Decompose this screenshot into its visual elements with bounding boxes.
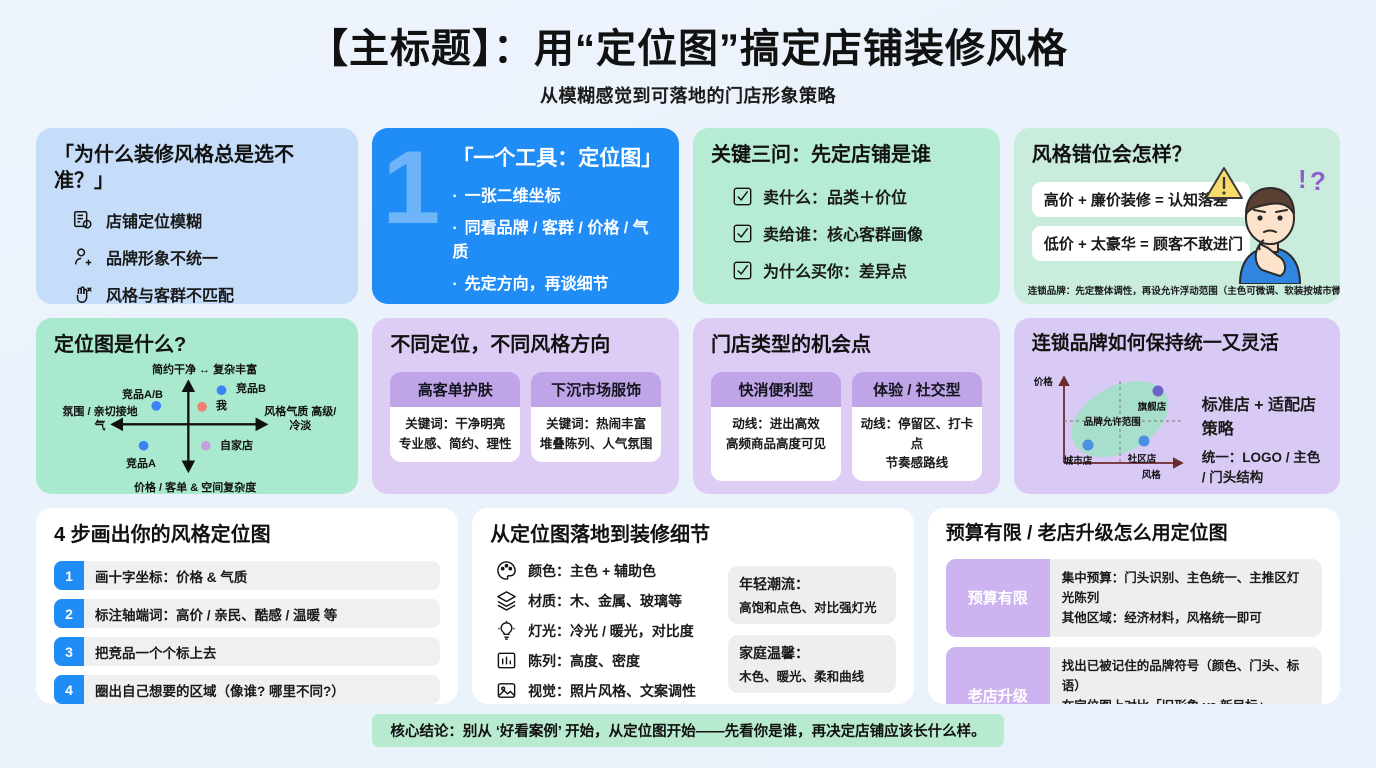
row-three: 4 步画出你的风格定位图 1 画十字坐标：价格 & 气质 2 标注轴端词：高价 … <box>36 508 1340 704</box>
direction-box: 下沉市场服饰 关键词：热闹丰富 堆叠陈列、人气氛围 <box>531 372 661 462</box>
list-item: 3 把竞品一个个标上去 <box>54 637 440 666</box>
list-item: 4 圈出自己想要的区域（像谁? 哪里不同?） <box>54 675 440 704</box>
list-item-label: 灯光：冷光 / 暖光，对比度 <box>528 621 694 641</box>
style-examples: 年轻潮流： 高饱和点色、对比强灯光 家庭温馨： 木色、暖光、柔和曲线 <box>728 560 896 704</box>
step-text: 标注轴端词：高价 / 亲民、酷感 / 温暖 等 <box>84 599 337 628</box>
card-what-is-map: 定位图是什么? <box>36 318 358 494</box>
card-the-tool: 1 「一个工具：定位图」 一张二维坐标 同看品牌 / 客群 / 价格 / 气质 … <box>372 128 679 304</box>
storetype-boxes: 快消便利型 动线：进出高效 高频商品高度可见 体验 / 社交型 动线：停留区、打… <box>711 372 982 481</box>
card-title: 关键三问：先定店铺是谁 <box>711 142 982 168</box>
box-header: 高客单护肤 <box>390 372 520 407</box>
row-tag: 老店升级 <box>946 647 1050 704</box>
card-title: 不同定位，不同风格方向 <box>390 332 661 358</box>
page-title: 【主标题】：用“定位图”搞定店铺装修风格 <box>36 26 1340 73</box>
step-number: 3 <box>54 637 84 666</box>
box-line: 节奏感路线 <box>858 454 976 473</box>
step-text: 圈出自己想要的区域（像谁? 哪里不同?） <box>84 675 345 704</box>
check-box-icon <box>733 224 752 243</box>
example-header: 年轻潮流： <box>739 574 885 594</box>
user-add-icon <box>72 246 94 268</box>
box-header: 快消便利型 <box>711 372 841 407</box>
example-box: 年轻潮流： 高饱和点色、对比强灯光 <box>728 566 896 624</box>
card-four-steps: 4 步画出你的风格定位图 1 画十字坐标：价格 & 气质 2 标注轴端词：高价 … <box>36 508 458 704</box>
list-item: 材质：木、金属、玻璃等 <box>496 590 718 611</box>
card-title: 连锁品牌如何保持统一又灵活 <box>1032 332 1322 357</box>
document-search-icon <box>72 209 94 231</box>
point-label: 竞品A <box>126 458 156 472</box>
bar-chart-icon <box>496 650 517 671</box>
range-annotation: 品牌允许范围 <box>1084 414 1141 428</box>
exclaim-question-icon: ! ? <box>1298 164 1326 196</box>
layers-icon <box>496 590 517 611</box>
list-item-label: 陈列：高度、密度 <box>528 651 640 671</box>
step-text: 画十字坐标：价格 & 气质 <box>84 561 247 590</box>
box-header: 下沉市场服饰 <box>531 372 661 407</box>
positioning-quadrant-chart: 简约干净 ↔ 复杂丰富 氛围 / 亲切接地气 风格气质 高级/冷淡 价格 / 客… <box>54 362 340 490</box>
storetype-box: 体验 / 社交型 动线：停留区、打卡点 节奏感路线 <box>852 372 982 481</box>
box-body: 关键词：热闹丰富 堆叠陈列、人气氛围 <box>531 407 661 462</box>
card-footnote: 连锁品牌：先定整体调性，再设允许浮动范围（主色可微调、软装按城市微调） <box>1028 283 1330 297</box>
hand-broken-icon <box>72 283 94 304</box>
row-line: 在定位图上对比「旧形象 vs 新目标」 <box>1062 696 1310 704</box>
list-item: 品牌形象不统一 <box>72 245 340 269</box>
conclusion-banner: 核心结论：别从 ‘好看案例’ 开始，从定位图开始——先看你是谁，再决定店铺应该长… <box>372 714 1003 747</box>
strategy-line: 统一：LOGO / 主色 / 门头结构 <box>1202 446 1322 486</box>
palette-icon <box>496 560 517 581</box>
list-item-label: 卖什么：品类＋价位 <box>763 184 907 208</box>
check-box-icon <box>733 187 752 206</box>
point-label: 自家店 <box>220 440 253 454</box>
chain-content: 价格 风格 品牌允许范围 旗舰店 城市店 社区店 标准店 + 适配店策略 统一：… <box>1032 363 1322 494</box>
row-line: 找出已被记住的品牌符号（颜色、门头、标语） <box>1062 656 1310 696</box>
axis-label-y: 价格 <box>1034 377 1052 388</box>
direction-box: 高客单护肤 关键词：干净明亮 专业感、简约、理性 <box>390 372 520 462</box>
check-box-icon <box>733 261 752 280</box>
row-two: 定位图是什么? <box>36 318 1340 494</box>
list-item-label: 颜色：主色 + 辅助色 <box>528 561 656 581</box>
list-item: 店铺定位模糊 <box>72 208 340 232</box>
budget-rows: 预算有限 集中预算：门头识别、主色统一、主推区灯光陈列 其他区域：经济材料，风格… <box>946 559 1322 704</box>
direction-boxes: 高客单护肤 关键词：干净明亮 专业感、简约、理性 下沉市场服饰 关键词：热闹丰富… <box>390 372 661 462</box>
brand-range-scatter-chart: 价格 风格 品牌允许范围 旗舰店 城市店 社区店 <box>1032 363 1198 483</box>
point-label: 城市店 <box>1064 453 1093 467</box>
step-number: 1 <box>382 146 440 231</box>
warning-triangle-icon <box>1206 168 1242 198</box>
data-point <box>1138 435 1149 446</box>
tool-list: 一张二维坐标 同看品牌 / 客群 / 价格 / 气质 先定方向，再谈细节 <box>452 182 661 294</box>
list-item: 为什么买你：差异点 <box>733 258 982 282</box>
point-label: 竞品B <box>236 383 266 397</box>
detail-content: 颜色：主色 + 辅助色 材质：木、金属、玻璃等 <box>490 560 896 704</box>
box-line: 专业感、简约、理性 <box>396 435 514 454</box>
list-item-label: 为什么买你：差异点 <box>763 258 907 282</box>
list-item: 灯光：冷光 / 暖光，对比度 <box>496 620 718 641</box>
infographic-page: 【主标题】：用“定位图”搞定店铺装修风格 从模糊感觉到可落地的门店形象策略 「为… <box>0 0 1376 768</box>
card-style-mismatch: 风格错位会怎样？ 高价 + 廉价装修 = 认知落差 低价 + 太豪华 = 顾客不… <box>1014 128 1340 304</box>
data-point <box>201 441 211 451</box>
chain-strategy: 标准店 + 适配店策略 统一：LOGO / 主色 / 门头结构 灵活：软装 / … <box>1202 363 1322 494</box>
list-item: 陈列：高度、密度 <box>496 650 718 671</box>
box-body: 动线：停留区、打卡点 节奏感路线 <box>852 407 982 481</box>
list-item-label: 卖给谁：核心客群画像 <box>763 221 923 245</box>
example-body: 高饱和点色、对比强灯光 <box>739 597 885 616</box>
list-item: 先定方向，再谈细节 <box>452 270 661 294</box>
thinking-person-illustration: ! ? <box>1202 160 1334 284</box>
box-line: 关键词：热闹丰富 <box>537 415 655 434</box>
card-title: 「为什么装修风格总是选不准？」 <box>54 142 340 194</box>
list-item: 卖什么：品类＋价位 <box>733 184 982 208</box>
storetype-box: 快消便利型 动线：进出高效 高频商品高度可见 <box>711 372 841 481</box>
list-item-label: 视觉：照片风格、文案调性 <box>528 681 696 701</box>
row-one: 「为什么装修风格总是选不准？」 店铺定位模糊 <box>36 128 1340 304</box>
card-budget-upgrade: 预算有限 / 老店升级怎么用定位图 预算有限 集中预算：门头识别、主色统一、主推… <box>928 508 1340 704</box>
page-subtitle: 从模糊感觉到可落地的门店形象策略 <box>36 82 1340 108</box>
strategy-heading: 标准店 + 适配店策略 <box>1202 391 1322 439</box>
list-item: 一张二维坐标 <box>452 182 661 206</box>
list-item: 风格与客群不匹配 <box>72 282 340 304</box>
box-line: 高频商品高度可见 <box>717 435 835 454</box>
axis-label-left: 氛围 / 亲切接地气 <box>62 406 138 434</box>
table-row: 老店升级 找出已被记住的品牌符号（颜色、门头、标语） 在定位图上对比「旧形象 v… <box>946 647 1322 704</box>
list-item: 1 画十字坐标：价格 & 气质 <box>54 561 440 590</box>
example-header: 家庭温馨： <box>739 643 885 663</box>
card-title: 4 步画出你的风格定位图 <box>54 522 440 548</box>
step-list: 1 画十字坐标：价格 & 气质 2 标注轴端词：高价 / 亲民、酷感 / 温暖 … <box>54 561 440 704</box>
point-label: 我 <box>216 400 227 414</box>
card-decor-details: 从定位图落地到装修细节 颜色：主色 + 辅助色 <box>472 508 914 704</box>
box-line: 关键词：干净明亮 <box>396 415 514 434</box>
image-icon <box>496 680 517 701</box>
box-body: 关键词：干净明亮 专业感、简约、理性 <box>390 407 520 462</box>
axis-label-top: 简约干净 ↔ 复杂丰富 <box>152 364 257 378</box>
data-point <box>1152 385 1163 396</box>
axis-label-right: 风格气质 高级/冷淡 <box>262 406 338 434</box>
row-line: 其他区域：经济材料，风格统一即可 <box>1062 608 1310 628</box>
point-label: 社区店 <box>1128 451 1157 465</box>
list-item: 2 标注轴端词：高价 / 亲民、酷感 / 温暖 等 <box>54 599 440 628</box>
data-point <box>139 441 149 451</box>
svg-text:!: ! <box>1298 164 1307 194</box>
box-line: 动线：停留区、打卡点 <box>858 415 976 454</box>
example-box: 家庭温馨： 木色、暖光、柔和曲线 <box>728 635 896 693</box>
card-title: 从定位图落地到装修细节 <box>490 522 896 548</box>
lightbulb-icon <box>496 620 517 641</box>
question-list: 卖什么：品类＋价位 卖给谁：核心客群画像 <box>711 184 982 282</box>
list-item-label: 风格与客群不匹配 <box>106 282 234 304</box>
row-line: 集中预算：门头识别、主色统一、主推区灯光陈列 <box>1062 568 1310 608</box>
data-point <box>197 402 207 412</box>
list-item-label: 品牌形象不统一 <box>106 245 218 269</box>
page-footer: 核心结论：别从 ‘好看案例’ 开始，从定位图开始——先看你是谁，再决定店铺应该长… <box>36 714 1340 747</box>
list-item: 同看品牌 / 客群 / 价格 / 气质 <box>452 214 661 262</box>
step-number: 1 <box>54 561 84 590</box>
list-item-label: 店铺定位模糊 <box>106 208 202 232</box>
card-title: 定位图是什么? <box>54 332 340 358</box>
card-store-types: 门店类型的机会点 快消便利型 动线：进出高效 高频商品高度可见 体验 / 社交型… <box>693 318 1000 494</box>
list-item: 卖给谁：核心客群画像 <box>733 221 982 245</box>
svg-text:?: ? <box>1310 166 1326 196</box>
axis-label-x: 风格 <box>1142 467 1161 481</box>
pain-list: 店铺定位模糊 品牌形象不统一 <box>54 208 340 304</box>
data-point <box>217 386 227 396</box>
data-point <box>1082 439 1093 450</box>
strategy-line: 灵活：软装 / 局部material <box>1202 493 1322 494</box>
box-body: 动线：进出高效 高频商品高度可见 <box>711 407 841 462</box>
step-number: 4 <box>54 675 84 704</box>
card-title: 预算有限 / 老店升级怎么用定位图 <box>946 522 1322 547</box>
table-row: 预算有限 集中预算：门头识别、主色统一、主推区灯光陈列 其他区域：经济材料，风格… <box>946 559 1322 637</box>
axis-label-bottom: 价格 / 客单 & 空间复杂度 <box>134 482 256 494</box>
point-label: 旗舰店 <box>1138 399 1167 413</box>
list-item: 视觉：照片风格、文案调性 <box>496 680 718 701</box>
card-style-directions: 不同定位，不同风格方向 高客单护肤 关键词：干净明亮 专业感、简约、理性 下沉市… <box>372 318 679 494</box>
card-chain-brand: 连锁品牌如何保持统一又灵活 <box>1014 318 1340 494</box>
example-body: 木色、暖光、柔和曲线 <box>739 666 885 685</box>
box-line: 堆叠陈列、人气氛围 <box>537 435 655 454</box>
card-three-questions: 关键三问：先定店铺是谁 卖什么：品类＋价位 <box>693 128 1000 304</box>
point-label: 竞品A/B <box>122 389 163 403</box>
card-pain-points: 「为什么装修风格总是选不准？」 店铺定位模糊 <box>36 128 358 304</box>
step-number: 2 <box>54 599 84 628</box>
row-body: 找出已被记住的品牌符号（颜色、门头、标语） 在定位图上对比「旧形象 vs 新目标… <box>1050 647 1322 704</box>
card-title: 「一个工具：定位图」 <box>452 142 661 172</box>
list-item-label: 材质：木、金属、玻璃等 <box>528 591 682 611</box>
row-body: 集中预算：门头识别、主色统一、主推区灯光陈列 其他区域：经济材料，风格统一即可 <box>1050 559 1322 637</box>
page-header: 【主标题】：用“定位图”搞定店铺装修风格 从模糊感觉到可落地的门店形象策略 <box>36 0 1340 108</box>
detail-list: 颜色：主色 + 辅助色 材质：木、金属、玻璃等 <box>490 560 718 704</box>
box-header: 体验 / 社交型 <box>852 372 982 407</box>
row-tag: 预算有限 <box>946 559 1050 637</box>
card-title: 门店类型的机会点 <box>711 332 982 358</box>
list-item: 颜色：主色 + 辅助色 <box>496 560 718 581</box>
box-line: 动线：进出高效 <box>717 415 835 434</box>
step-text: 把竞品一个个标上去 <box>84 637 217 666</box>
